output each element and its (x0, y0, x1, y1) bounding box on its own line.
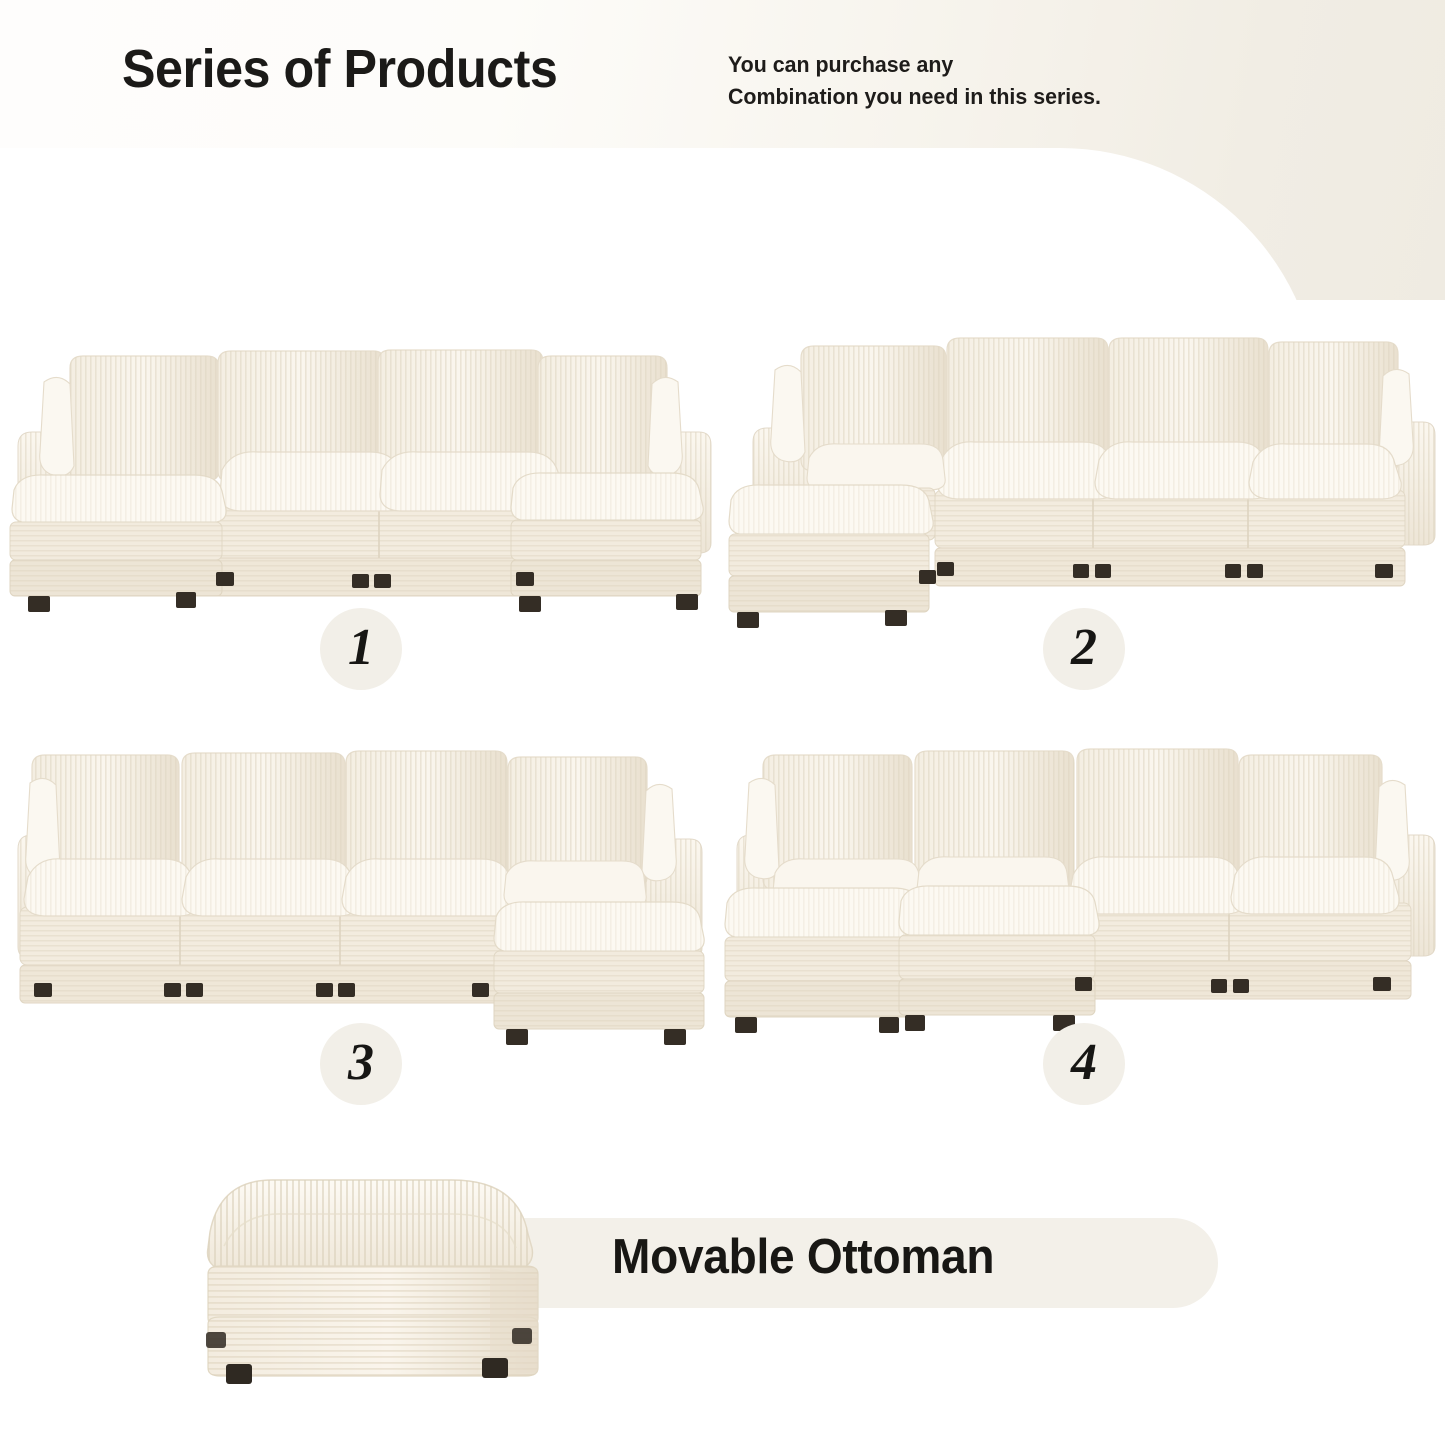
product-cell-3[interactable]: 3 (0, 745, 722, 1160)
sofa-illustration-2 (723, 330, 1445, 630)
subtitle-line-2: Combination you need in this series. (728, 81, 1101, 113)
product-number-1: 1 (348, 622, 374, 674)
product-badge-3: 3 (320, 1023, 402, 1105)
product-badge-2: 2 (1043, 608, 1125, 690)
banner-bottom-fill (0, 300, 1445, 310)
page-title: Series of Products (122, 38, 557, 100)
movable-ottoman-illustration (190, 1170, 570, 1390)
sofa-illustration-3 (0, 745, 722, 1045)
movable-ottoman-label: Movable Ottoman (612, 1229, 994, 1285)
header-subtitle: You can purchase any Combination you nee… (728, 49, 1101, 113)
banner-curve-shape (0, 148, 1320, 310)
product-number-2: 2 (1071, 622, 1097, 674)
sofa-illustration-1 (0, 330, 722, 630)
header-text-row: Series of Products You can purchase any … (0, 0, 1445, 148)
product-cell-2[interactable]: 2 (723, 330, 1445, 745)
product-cell-4[interactable]: 4 (723, 745, 1445, 1160)
sofa-illustration-4 (723, 745, 1445, 1045)
product-badge-1: 1 (320, 608, 402, 690)
product-badge-4: 4 (1043, 1023, 1125, 1105)
product-number-3: 3 (348, 1037, 374, 1089)
product-cell-1[interactable]: 1 (0, 330, 722, 745)
product-grid: 1 (0, 330, 1445, 1160)
product-number-4: 4 (1071, 1037, 1097, 1089)
subtitle-line-1: You can purchase any (728, 49, 1101, 81)
